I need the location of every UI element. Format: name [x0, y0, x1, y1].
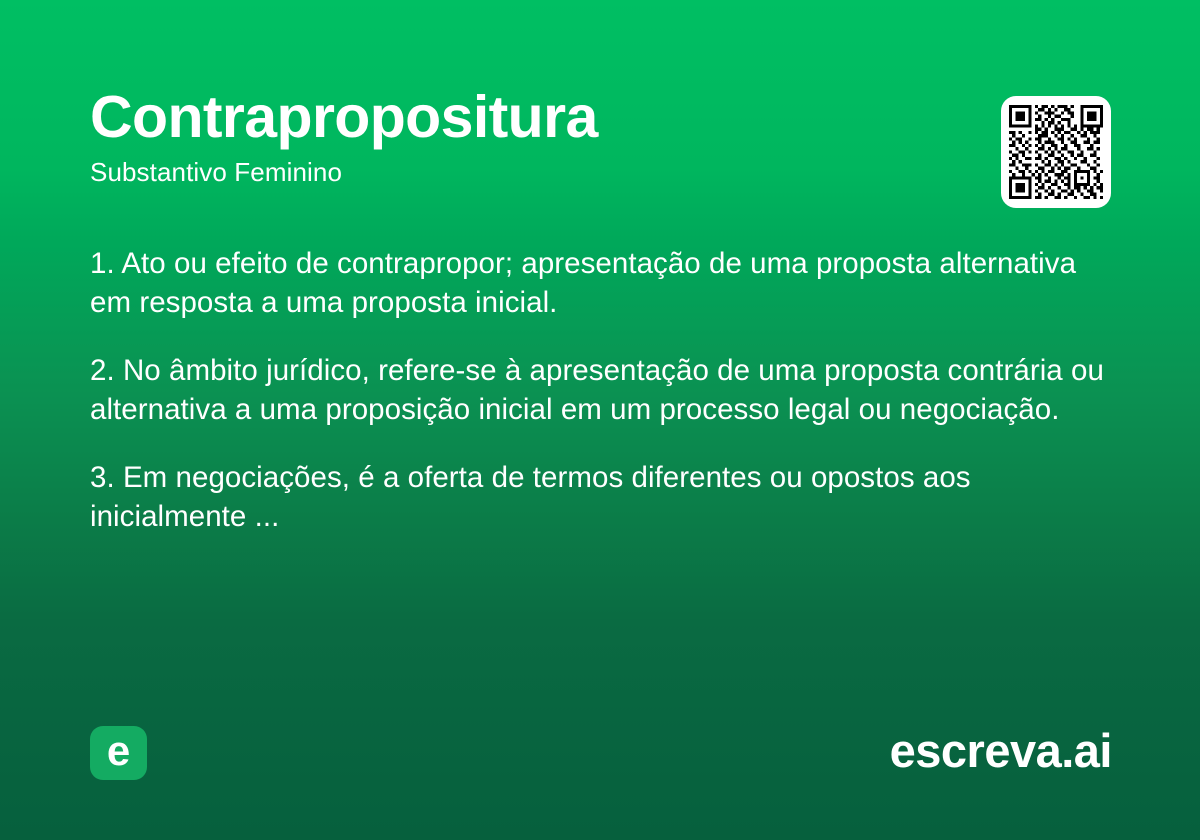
brand-name: escreva.ai	[890, 722, 1112, 780]
page-title: Contrapropositura	[90, 84, 970, 150]
card-header: Contrapropositura Substantivo Feminino	[90, 84, 970, 188]
escreva-logo-icon: e	[90, 726, 147, 780]
word-class-label: Substantivo Feminino	[90, 156, 970, 188]
definitions-list: 1. Ato ou efeito de contrapropor; aprese…	[90, 244, 1120, 536]
definition-item: 2. No âmbito jurídico, refere-se à apres…	[90, 351, 1120, 429]
dictionary-card: Contrapropositura Substantivo Feminino	[0, 0, 1200, 840]
definition-item: 1. Ato ou efeito de contrapropor; aprese…	[90, 244, 1120, 322]
definition-item: 3. Em negociações, é a oferta de termos …	[90, 458, 1120, 536]
qr-code-card[interactable]	[1001, 96, 1111, 208]
logo-letter: e	[107, 730, 130, 772]
qr-code-icon	[1009, 105, 1103, 199]
